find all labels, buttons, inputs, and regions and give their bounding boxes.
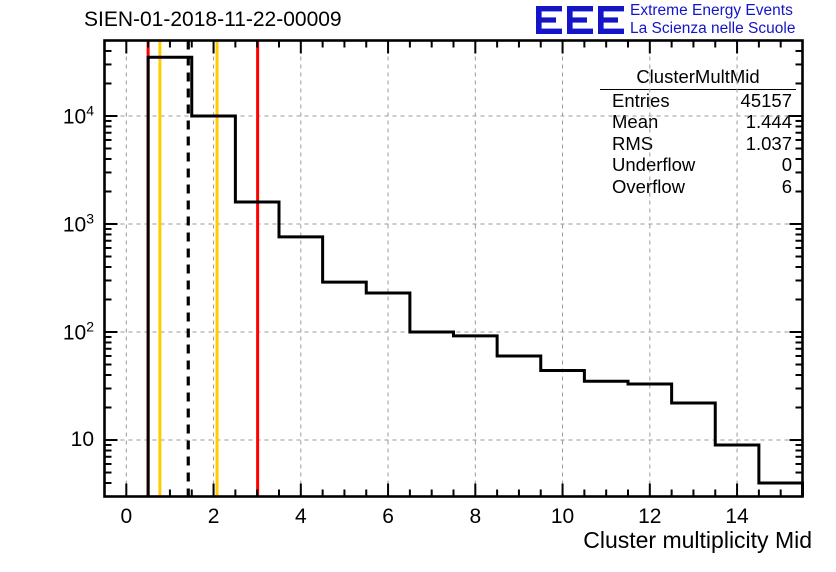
x-tick-label: 6	[382, 505, 394, 529]
y-tick-label: 10	[28, 428, 94, 452]
x-tick-label: 10	[551, 505, 574, 529]
y-tick-label: 102	[28, 319, 94, 346]
x-tick-label: 2	[208, 505, 220, 529]
grid-lines	[105, 41, 803, 497]
x-tick-label: 4	[295, 505, 307, 529]
axis-ticks	[105, 41, 803, 497]
x-axis-title: Cluster multiplicity Mid	[583, 527, 812, 554]
x-tick-label: 14	[725, 505, 748, 529]
threshold-marker-lines	[148, 41, 257, 497]
x-tick-label: 12	[638, 505, 661, 529]
y-tick-label: 104	[28, 102, 94, 129]
axis-frame	[105, 41, 803, 497]
x-tick-label: 8	[469, 505, 481, 529]
x-tick-label: 0	[120, 505, 132, 529]
y-tick-label: 103	[28, 211, 94, 238]
histogram-canvas	[0, 0, 836, 572]
